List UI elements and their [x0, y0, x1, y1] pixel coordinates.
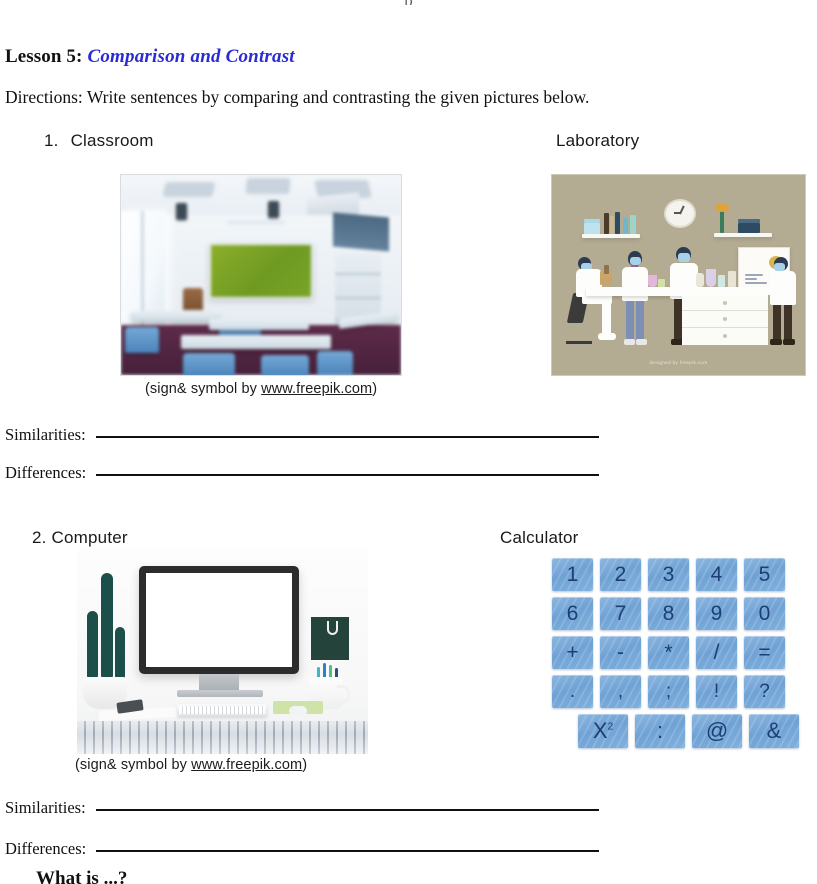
- beaker-icon: [658, 279, 665, 287]
- keypad-row-1: 1 2 3 4 5: [552, 558, 785, 591]
- drawer-knob: [723, 301, 727, 305]
- book-stack: [584, 219, 600, 223]
- book-stack: [738, 219, 760, 223]
- wall-shelf: [714, 233, 772, 237]
- face-mask-icon: [678, 253, 690, 262]
- keyboard: [177, 704, 267, 716]
- desk-scene: [77, 549, 368, 754]
- leg: [626, 301, 634, 341]
- differences-row-2: Differences:: [5, 839, 599, 859]
- caption-suffix: ): [372, 381, 377, 397]
- item-2-number: 2.: [32, 528, 47, 547]
- drawer-cabinet: [682, 295, 768, 345]
- drawer-knob: [723, 334, 727, 338]
- diagram-line: [745, 278, 757, 280]
- desk: [181, 335, 331, 349]
- calc-key[interactable]: @: [692, 714, 742, 748]
- top-cutoff-text: p: [0, 0, 817, 5]
- laboratory-scene: designed by freepik.com: [552, 175, 805, 375]
- bottle: [630, 215, 636, 234]
- caption-link[interactable]: www.freepik.com: [191, 757, 302, 773]
- worksheet-page: p Lesson 5:Comparison and Contrast Direc…: [0, 0, 817, 884]
- calc-key[interactable]: +: [552, 636, 593, 669]
- speaker-icon: [176, 203, 187, 220]
- desk-surface: [77, 721, 368, 754]
- lesson-heading: Lesson 5:Comparison and Contrast: [5, 46, 295, 68]
- leg: [674, 299, 682, 341]
- side-desk: [738, 287, 790, 295]
- chair-base: [566, 341, 592, 344]
- shoe: [624, 339, 635, 345]
- calc-key-exponent: 2: [608, 722, 614, 733]
- item-1-left-label: Classroom: [71, 131, 154, 150]
- similarities-input-2[interactable]: [96, 809, 599, 811]
- cactus-arm: [87, 611, 98, 681]
- shoe: [783, 339, 795, 345]
- diagram-line: [745, 282, 767, 284]
- leg: [773, 305, 781, 341]
- ceiling-vent-icon: [246, 179, 289, 193]
- face-mask-icon: [774, 263, 785, 271]
- calc-key[interactable]: -: [600, 636, 641, 669]
- monitor: [139, 566, 299, 674]
- caption-prefix: (sign& symbol by: [145, 381, 261, 397]
- chair: [125, 327, 159, 353]
- shelf-line: [335, 273, 381, 275]
- calc-key[interactable]: /: [696, 636, 737, 669]
- test-tube-icon: [728, 271, 736, 287]
- leg: [636, 301, 644, 341]
- caption-prefix: (sign& symbol by: [75, 757, 191, 773]
- calc-key[interactable]: *: [648, 636, 689, 669]
- image-caption-1: (sign& symbol by www.freepik.com): [145, 381, 377, 397]
- calc-key[interactable]: ?: [744, 675, 785, 708]
- classroom-image: [120, 174, 402, 376]
- chair: [317, 351, 353, 375]
- book-stack: [584, 223, 600, 234]
- plant-icon: [715, 203, 729, 212]
- item-1-left-header: 1.Classroom: [44, 131, 154, 151]
- calc-key[interactable]: ;: [648, 675, 689, 708]
- calc-key[interactable]: 6: [552, 597, 593, 630]
- book: [610, 216, 614, 234]
- leg: [784, 305, 792, 341]
- calc-key[interactable]: :: [635, 714, 685, 748]
- item-2-left-label: Computer: [52, 528, 128, 547]
- microscope-arm: [604, 265, 609, 274]
- differences-input-2[interactable]: [96, 850, 599, 852]
- lesson-label: Lesson 5:: [5, 46, 82, 67]
- leg: [602, 301, 611, 337]
- monitor-screen: [146, 573, 292, 667]
- calc-key[interactable]: 9: [696, 597, 737, 630]
- chair: [261, 355, 309, 376]
- image-caption-2: (sign& symbol by www.freepik.com): [75, 757, 307, 773]
- keypad-row-3: + - * / =: [552, 636, 785, 669]
- similarities-row-2: Similarities:: [5, 798, 599, 818]
- test-tube-icon: [696, 273, 704, 287]
- wall-clock-icon: [664, 199, 696, 228]
- computer-image: [77, 549, 368, 754]
- calc-key[interactable]: 0: [744, 597, 785, 630]
- differences-input-1[interactable]: [96, 474, 599, 476]
- similarities-input-1[interactable]: [96, 436, 599, 438]
- calc-key[interactable]: 3: [648, 558, 689, 591]
- item-2-right-header: Calculator: [500, 528, 579, 548]
- desk-wood-grain: [77, 721, 368, 754]
- drawer-knob: [723, 317, 727, 321]
- wall-ledge: [227, 220, 285, 225]
- book: [615, 212, 620, 234]
- laboratory-image: designed by freepik.com: [551, 174, 806, 376]
- flask-icon: [706, 269, 716, 287]
- item-1-right-header: Laboratory: [556, 131, 639, 151]
- face-mask-icon: [630, 257, 641, 265]
- desk: [131, 311, 219, 321]
- calc-key-square[interactable]: X2: [578, 714, 628, 748]
- cactus: [101, 573, 113, 681]
- classroom-scene: [121, 175, 401, 375]
- keypad-row-5: X2 : @ &: [578, 714, 799, 748]
- calc-key[interactable]: =: [744, 636, 785, 669]
- calc-key[interactable]: 5: [744, 558, 785, 591]
- differences-row-1: Differences:: [5, 463, 599, 483]
- drawer-divider: [682, 327, 768, 328]
- calc-key[interactable]: 2: [600, 558, 641, 591]
- caption-suffix: ): [302, 757, 307, 773]
- shoe: [598, 333, 616, 340]
- ceiling-vent-icon: [163, 183, 214, 196]
- drawer-divider: [682, 310, 768, 311]
- caption-link[interactable]: www.freepik.com: [261, 381, 372, 397]
- desk: [209, 319, 309, 330]
- calc-key[interactable]: &: [749, 714, 799, 748]
- similarities-label-2: Similarities:: [5, 798, 86, 817]
- wall-shelf: [582, 234, 640, 238]
- calc-key-x: X: [593, 718, 608, 743]
- differences-label-1: Differences:: [5, 463, 86, 482]
- monitor-base: [177, 690, 263, 697]
- similarities-row-1: Similarities:: [5, 425, 599, 445]
- cactus-arm: [115, 627, 125, 681]
- mouse: [289, 706, 307, 716]
- keypad-row-2: 6 7 8 9 0: [552, 597, 785, 630]
- differences-label-2: Differences:: [5, 839, 86, 858]
- calc-key[interactable]: 1: [552, 558, 593, 591]
- bottle: [623, 218, 628, 234]
- chalkboard: [209, 243, 313, 299]
- lesson-title: Comparison and Contrast: [87, 46, 294, 67]
- item-2-left-header: 2. Computer: [32, 528, 128, 548]
- calc-key[interactable]: ,: [600, 675, 641, 708]
- book: [604, 213, 609, 234]
- calc-key[interactable]: !: [696, 675, 737, 708]
- directions-text: Directions: Write sentences by comparing…: [5, 87, 589, 108]
- flask-icon: [648, 275, 657, 287]
- beaker-icon: [718, 275, 725, 287]
- keyboard-keys: [179, 706, 265, 714]
- similarities-label-1: Similarities:: [5, 425, 86, 444]
- diagram-line: [745, 274, 763, 276]
- freepik-watermark: designed by freepik.com: [650, 360, 708, 365]
- chair: [183, 353, 235, 376]
- teacher-chair: [183, 288, 203, 310]
- shelf-line: [335, 297, 381, 299]
- calc-key[interactable]: 8: [648, 597, 689, 630]
- upper-cabinet: [333, 213, 389, 252]
- item-1-number: 1.: [44, 131, 59, 150]
- bottom-cutoff-text: What is ...?: [36, 868, 127, 884]
- shoe: [770, 339, 782, 345]
- calc-key[interactable]: .: [552, 675, 593, 708]
- calculator-keypad: 1 2 3 4 5 6 7 8 9 0 + - * / = . , ; ! ?: [552, 558, 810, 758]
- shoe: [636, 339, 647, 345]
- calc-key[interactable]: 7: [600, 597, 641, 630]
- hook-icon: [327, 621, 338, 635]
- calc-key[interactable]: 4: [696, 558, 737, 591]
- book-stack: [738, 223, 760, 233]
- keypad-row-4: . , ; ! ?: [552, 675, 785, 708]
- speaker-icon: [268, 201, 279, 218]
